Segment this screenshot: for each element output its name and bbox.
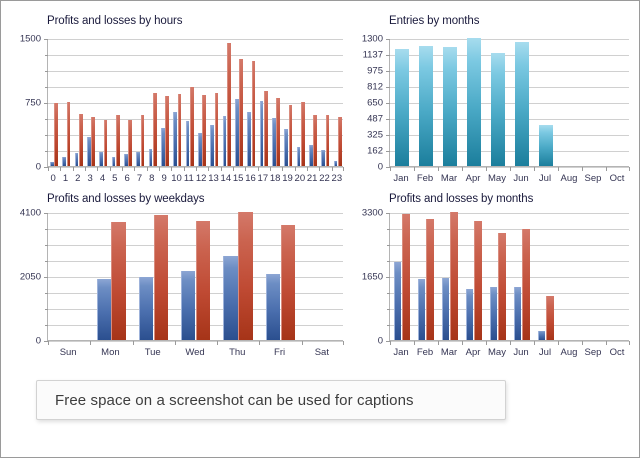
x-tick-label: Mar	[441, 173, 457, 184]
x-tick-mark	[534, 167, 535, 171]
x-tick-label: Jun	[513, 173, 528, 184]
bar-losses-10	[178, 94, 182, 166]
bar-profits-23	[334, 161, 338, 166]
bar-profits-Mar	[442, 278, 450, 340]
bar-profits-14	[223, 116, 227, 166]
y-minor-tick-mark	[387, 325, 390, 326]
screenshot-root: Profits and losses by hours0750150001234…	[0, 0, 640, 458]
bar-losses-19	[289, 105, 293, 166]
x-tick-mark	[582, 341, 583, 345]
x-tick-label: 1	[63, 173, 68, 184]
plot-area	[47, 39, 343, 167]
bar-profits-1	[62, 157, 66, 166]
x-tick-label: 10	[171, 173, 182, 184]
bar-profits-10	[173, 112, 177, 166]
y-minor-tick-mark	[387, 309, 390, 310]
bar-losses-Thu	[238, 212, 252, 340]
x-tick-label: Sun	[60, 347, 77, 358]
y-tick-mark	[386, 71, 390, 72]
y-minor-tick-mark	[45, 39, 48, 40]
x-tick-label: 6	[125, 173, 130, 184]
x-tick-label: 0	[51, 173, 56, 184]
x-tick-mark	[343, 341, 344, 345]
bar-losses-7	[141, 115, 145, 166]
x-tick-label: 19	[282, 173, 293, 184]
x-tick-label: 16	[245, 173, 256, 184]
x-tick-mark	[510, 341, 511, 345]
x-tick-label: May	[488, 173, 506, 184]
y-tick-label: 0	[378, 336, 383, 347]
bar-losses-1	[67, 102, 71, 166]
x-tick-label: Sep	[585, 173, 602, 184]
y-minor-tick-mark	[45, 55, 48, 56]
x-tick-mark	[258, 167, 259, 171]
chart-title: Entries by months	[389, 15, 479, 27]
y-tick-label: 0	[378, 162, 383, 173]
x-tick-label: Oct	[610, 347, 625, 358]
x-tick-label: 4	[100, 173, 105, 184]
x-tick-mark	[134, 167, 135, 171]
x-tick-mark	[582, 167, 583, 171]
x-tick-mark	[48, 167, 49, 171]
x-tick-mark	[175, 341, 176, 345]
x-tick-mark	[73, 167, 74, 171]
bar-entries-Jun	[515, 42, 530, 166]
bar-profits-Fri	[266, 274, 280, 340]
bar-losses-Jul	[546, 296, 554, 340]
plot-area	[389, 213, 629, 341]
bar-losses-3	[91, 117, 95, 166]
bar-profits-21	[309, 145, 313, 166]
y-minor-tick-mark	[387, 229, 390, 230]
x-tick-mark	[147, 167, 148, 171]
bar-profits-11	[186, 121, 190, 166]
x-tick-label: 12	[196, 173, 207, 184]
bar-entries-Jan	[395, 49, 410, 166]
y-tick-label: 487	[367, 114, 383, 125]
x-tick-mark	[60, 167, 61, 171]
x-tick-label: 21	[307, 173, 318, 184]
bar-losses-14	[227, 43, 231, 166]
x-tick-mark	[133, 341, 134, 345]
bar-losses-Jan	[402, 214, 410, 340]
x-tick-label: Thu	[229, 347, 245, 358]
bar-losses-Mar	[450, 212, 458, 340]
bar-losses-13	[215, 93, 219, 166]
x-tick-mark	[390, 167, 391, 171]
y-tick-label: 0	[36, 336, 41, 347]
x-tick-mark	[221, 167, 222, 171]
bar-profits-4	[99, 152, 103, 167]
x-tick-label: 7	[137, 173, 142, 184]
bar-losses-9	[165, 96, 169, 166]
y-minor-tick-mark	[45, 229, 48, 230]
y-tick-label: 162	[367, 146, 383, 157]
y-minor-tick-mark	[45, 293, 48, 294]
bar-losses-15	[239, 59, 243, 166]
bar-profits-19	[284, 129, 288, 166]
x-tick-mark	[159, 167, 160, 171]
y-minor-tick-mark	[45, 151, 48, 152]
x-tick-label: Jul	[539, 173, 551, 184]
x-tick-label: 8	[149, 173, 154, 184]
y-tick-label: 2050	[20, 272, 41, 283]
y-tick-mark	[386, 87, 390, 88]
x-tick-mark	[196, 167, 197, 171]
y-tick-label: 0	[36, 162, 41, 173]
x-tick-mark	[629, 341, 630, 345]
bar-losses-Apr	[474, 221, 482, 340]
x-tick-label: Aug	[561, 347, 578, 358]
chart-panel-entries-by-months: Entries by months01623254876508129751137…	[349, 15, 635, 187]
bar-profits-0	[50, 162, 54, 166]
x-tick-mark	[122, 167, 123, 171]
x-tick-mark	[48, 341, 49, 345]
x-tick-mark	[414, 341, 415, 345]
grid-line	[48, 71, 343, 72]
bar-profits-20	[297, 147, 301, 166]
grid-line	[48, 103, 343, 104]
grid-line	[390, 39, 629, 40]
bar-profits-Jan	[394, 262, 402, 340]
x-tick-label: 5	[112, 173, 117, 184]
grid-line	[390, 213, 629, 214]
bar-profits-Wed	[181, 271, 195, 340]
bar-profits-16	[247, 112, 251, 166]
y-tick-label: 750	[25, 98, 41, 109]
x-tick-mark	[90, 341, 91, 345]
bar-entries-Jul	[539, 125, 554, 166]
bar-profits-22	[321, 150, 325, 166]
x-tick-mark	[110, 167, 111, 171]
y-minor-tick-mark	[45, 119, 48, 120]
x-tick-label: Jul	[539, 347, 551, 358]
x-tick-label: May	[488, 347, 506, 358]
chart-panel-profits-losses-by-hours: Profits and losses by hours0750150001234…	[9, 15, 339, 187]
y-tick-label: 3300	[362, 208, 383, 219]
x-tick-mark	[438, 167, 439, 171]
x-tick-label: Jan	[393, 173, 408, 184]
y-tick-label: 1650	[362, 272, 383, 283]
x-tick-mark	[245, 167, 246, 171]
y-minor-tick-mark	[45, 71, 48, 72]
bar-profits-Jul	[538, 331, 546, 340]
y-minor-tick-mark	[45, 261, 48, 262]
x-tick-label: Jun	[513, 347, 528, 358]
bar-losses-18	[276, 98, 280, 166]
x-tick-mark	[332, 167, 333, 171]
bar-profits-Apr	[466, 289, 474, 340]
bar-losses-12	[202, 95, 206, 166]
grid-line	[48, 55, 343, 56]
bar-profits-Jun	[514, 287, 522, 340]
x-tick-mark	[184, 167, 185, 171]
x-tick-label: Jan	[393, 347, 408, 358]
x-tick-mark	[558, 167, 559, 171]
caption-text: Free space on a screenshot can be used f…	[37, 392, 414, 409]
x-tick-mark	[208, 167, 209, 171]
y-tick-mark	[386, 103, 390, 104]
x-tick-label: Oct	[610, 173, 625, 184]
bar-losses-11	[190, 87, 194, 166]
grid-line	[48, 341, 343, 342]
y-minor-tick-mark	[45, 325, 48, 326]
x-tick-mark	[233, 167, 234, 171]
y-minor-tick-mark	[45, 135, 48, 136]
x-tick-mark	[343, 167, 344, 171]
bar-losses-16	[252, 61, 256, 166]
x-tick-mark	[97, 167, 98, 171]
bar-losses-22	[326, 115, 330, 166]
x-tick-mark	[462, 341, 463, 345]
x-tick-label: 2	[75, 173, 80, 184]
bar-losses-2	[79, 114, 83, 166]
y-tick-label: 650	[367, 98, 383, 109]
x-tick-mark	[462, 167, 463, 171]
bar-profits-3	[87, 137, 91, 166]
bar-losses-21	[313, 115, 317, 166]
y-minor-tick-mark	[45, 245, 48, 246]
x-tick-mark	[85, 167, 86, 171]
x-tick-label: Wed	[185, 347, 204, 358]
x-tick-label: 3	[88, 173, 93, 184]
x-tick-label: 17	[258, 173, 269, 184]
x-tick-mark	[217, 341, 218, 345]
x-tick-mark	[606, 341, 607, 345]
chart-panel-profits-losses-by-months: Profits and losses by months016503300Jan…	[349, 193, 635, 363]
bar-profits-Tue	[139, 277, 153, 340]
y-tick-label: 812	[367, 82, 383, 93]
x-tick-label: Feb	[417, 173, 433, 184]
x-tick-mark	[319, 167, 320, 171]
y-tick-label: 1500	[20, 34, 41, 45]
bar-entries-Mar	[443, 47, 458, 166]
bar-profits-5	[112, 157, 116, 166]
y-tick-label: 1137	[363, 50, 383, 61]
bar-losses-Wed	[196, 221, 210, 340]
x-tick-label: 13	[208, 173, 219, 184]
bar-losses-May	[498, 233, 506, 340]
y-minor-tick-mark	[387, 261, 390, 262]
y-tick-label: 4100	[20, 208, 41, 219]
x-tick-label: 9	[162, 173, 167, 184]
bar-losses-8	[153, 93, 157, 166]
y-tick-mark	[386, 135, 390, 136]
bar-profits-Mon	[97, 279, 111, 340]
y-minor-tick-mark	[387, 245, 390, 246]
grid-line	[48, 213, 343, 214]
x-tick-mark	[270, 167, 271, 171]
bar-profits-18	[272, 118, 276, 166]
x-tick-label: Apr	[466, 347, 481, 358]
x-tick-label: Mon	[101, 347, 119, 358]
bar-entries-Apr	[467, 38, 482, 166]
bar-losses-5	[116, 115, 120, 166]
bar-profits-Feb	[418, 279, 426, 340]
x-tick-label: Apr	[466, 173, 481, 184]
chart-title: Profits and losses by months	[389, 193, 533, 205]
bar-entries-Feb	[419, 46, 434, 166]
bar-profits-8	[149, 149, 153, 166]
x-tick-label: Tue	[145, 347, 161, 358]
x-tick-label: 20	[295, 173, 306, 184]
bar-losses-17	[264, 91, 268, 166]
y-minor-tick-mark	[387, 277, 390, 278]
bar-profits-2	[75, 153, 79, 166]
x-tick-mark	[295, 167, 296, 171]
bar-losses-20	[301, 102, 305, 166]
x-tick-label: Aug	[561, 173, 578, 184]
x-tick-label: Sep	[585, 347, 602, 358]
bar-losses-23	[338, 117, 342, 166]
bar-profits-13	[210, 125, 214, 166]
x-tick-mark	[486, 167, 487, 171]
bar-losses-Feb	[426, 219, 434, 340]
x-tick-mark	[307, 167, 308, 171]
bar-losses-6	[128, 120, 132, 166]
x-tick-label: 11	[184, 173, 194, 184]
bar-losses-Jun	[522, 229, 530, 340]
y-minor-tick-mark	[45, 213, 48, 214]
y-tick-mark	[386, 55, 390, 56]
x-tick-mark	[606, 167, 607, 171]
bar-losses-0	[54, 103, 58, 166]
x-tick-label: 22	[319, 173, 330, 184]
y-tick-mark	[386, 119, 390, 120]
grid-line	[48, 87, 343, 88]
x-tick-mark	[629, 167, 630, 171]
x-tick-label: Mar	[441, 347, 457, 358]
bar-losses-Tue	[154, 215, 168, 341]
y-tick-label: 325	[367, 130, 383, 141]
x-tick-label: 14	[221, 173, 232, 184]
x-tick-mark	[302, 341, 303, 345]
y-tick-mark	[386, 39, 390, 40]
x-tick-label: 15	[233, 173, 244, 184]
x-tick-mark	[534, 341, 535, 345]
y-tick-mark	[386, 151, 390, 152]
bar-profits-6	[124, 154, 128, 166]
x-tick-mark	[171, 167, 172, 171]
x-tick-label: 18	[270, 173, 281, 184]
y-tick-label: 975	[367, 66, 383, 77]
x-tick-mark	[510, 167, 511, 171]
plot-area	[47, 213, 343, 341]
grid-line	[48, 39, 343, 40]
x-tick-mark	[414, 167, 415, 171]
x-tick-mark	[282, 167, 283, 171]
bar-entries-May	[491, 53, 506, 166]
x-tick-mark	[558, 341, 559, 345]
y-minor-tick-mark	[387, 213, 390, 214]
x-tick-mark	[390, 341, 391, 345]
bar-profits-May	[490, 287, 498, 340]
bar-losses-4	[104, 120, 108, 167]
y-minor-tick-mark	[45, 277, 48, 278]
bar-losses-Fri	[281, 225, 295, 341]
x-tick-mark	[438, 341, 439, 345]
bar-profits-9	[161, 128, 165, 166]
bar-profits-17	[260, 101, 264, 166]
x-tick-label: Feb	[417, 347, 433, 358]
y-minor-tick-mark	[387, 293, 390, 294]
chart-panel-profits-losses-by-weekdays: Profits and losses by weekdays020504100S…	[9, 193, 339, 363]
x-tick-label: 23	[332, 173, 343, 184]
y-minor-tick-mark	[45, 103, 48, 104]
bar-profits-7	[136, 152, 140, 166]
bar-profits-12	[198, 133, 202, 166]
plot-area	[389, 39, 629, 167]
bar-profits-15	[235, 99, 239, 166]
x-tick-mark	[486, 341, 487, 345]
y-minor-tick-mark	[45, 87, 48, 88]
bar-losses-Mon	[111, 222, 125, 340]
y-tick-label: 1300	[362, 34, 383, 45]
x-tick-label: Fri	[274, 347, 285, 358]
chart-title: Profits and losses by hours	[47, 15, 182, 27]
chart-title: Profits and losses by weekdays	[47, 193, 204, 205]
x-tick-mark	[259, 341, 260, 345]
x-tick-label: Sat	[315, 347, 329, 358]
y-minor-tick-mark	[45, 309, 48, 310]
caption-box: Free space on a screenshot can be used f…	[36, 380, 506, 420]
bar-profits-Thu	[223, 256, 237, 340]
